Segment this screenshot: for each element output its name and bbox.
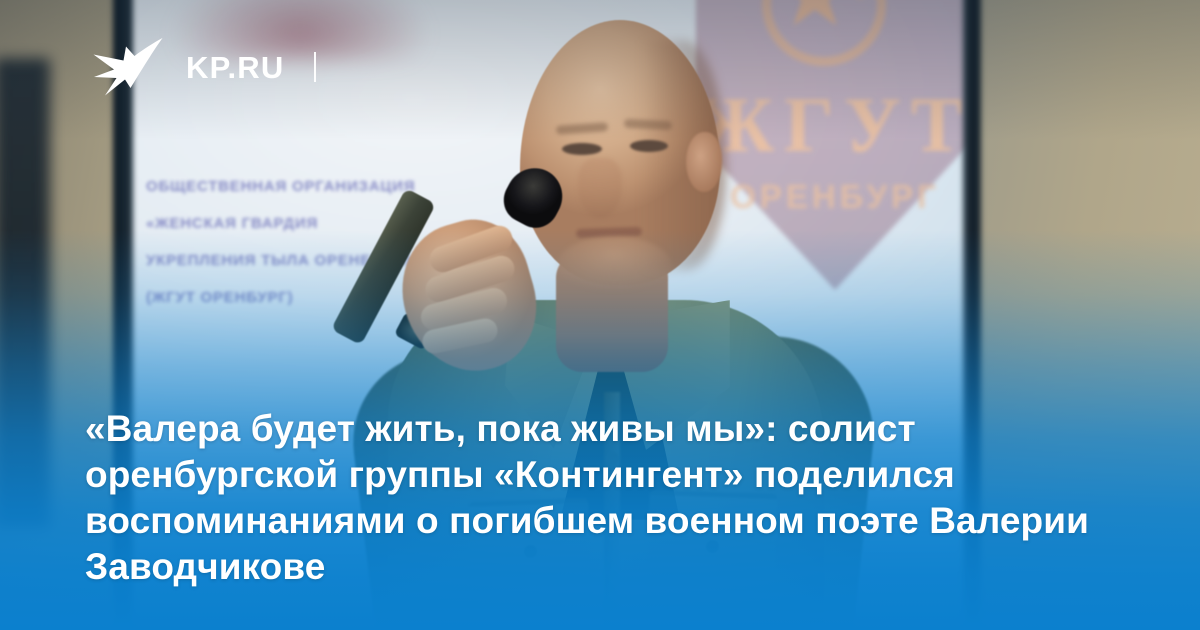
social-share-card: ОБЩЕСТВЕННАЯ ОРГАНИЗАЦИЯ «ЖЕНСКАЯ ГВАРДИ… (0, 0, 1200, 630)
headline: «Валера будет жить, пока живы мы»: солис… (85, 406, 1125, 590)
brand-separator (314, 52, 316, 82)
brand-name: KP.RU (186, 52, 284, 83)
eye-right (630, 140, 668, 152)
ear (686, 132, 722, 192)
swallow-bird-icon (92, 36, 164, 98)
eye-left (562, 143, 602, 155)
nose (578, 158, 622, 218)
brand-bar[interactable]: KP.RU (92, 36, 316, 98)
